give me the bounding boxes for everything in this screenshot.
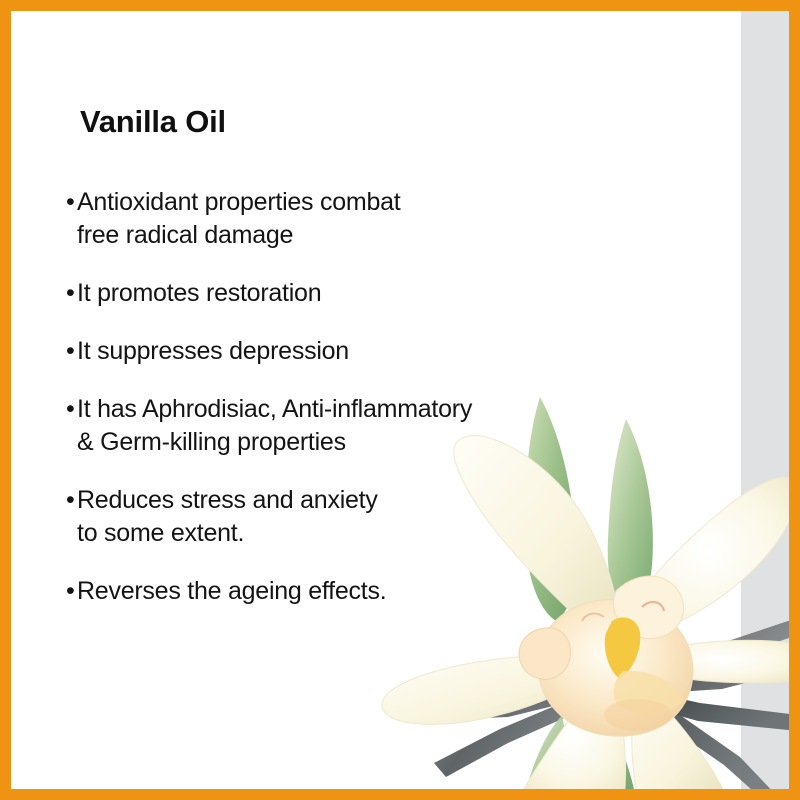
list-item: • It suppresses depression xyxy=(66,335,626,368)
border-top xyxy=(0,0,800,11)
border-bottom xyxy=(0,789,800,800)
list-item-text: It promotes restoration xyxy=(77,277,626,310)
product-benefits-card: Vanilla Oil • Antioxidant properties com… xyxy=(0,0,800,800)
page-title: Vanilla Oil xyxy=(80,104,226,140)
list-item: • It has Aphrodisiac, Anti-inflammatory … xyxy=(66,393,626,459)
bullet-dot-icon: • xyxy=(66,575,77,608)
bullet-dot-icon: • xyxy=(66,335,77,368)
list-item: • Antioxidant properties combat free rad… xyxy=(66,186,626,252)
list-item: • It promotes restoration xyxy=(66,277,626,310)
bullet-dot-icon: • xyxy=(66,277,77,310)
list-item: • Reduces stress and anxiety to some ext… xyxy=(66,484,626,550)
list-item-text: Reverses the ageing effects. xyxy=(77,575,626,608)
border-left xyxy=(0,0,11,800)
list-item-text: Antioxidant properties combat free radic… xyxy=(77,186,626,252)
bullet-dot-icon: • xyxy=(66,186,77,219)
list-item-text: It has Aphrodisiac, Anti-inflammatory & … xyxy=(77,393,626,459)
bullet-dot-icon: • xyxy=(66,484,77,517)
list-item: • Reverses the ageing effects. xyxy=(66,575,626,608)
benefits-list: • Antioxidant properties combat free rad… xyxy=(66,186,626,633)
border-right xyxy=(789,0,800,800)
bullet-dot-icon: • xyxy=(66,393,77,426)
list-item-text: It suppresses depression xyxy=(77,335,626,368)
list-item-text: Reduces stress and anxiety to some exten… xyxy=(77,484,626,550)
